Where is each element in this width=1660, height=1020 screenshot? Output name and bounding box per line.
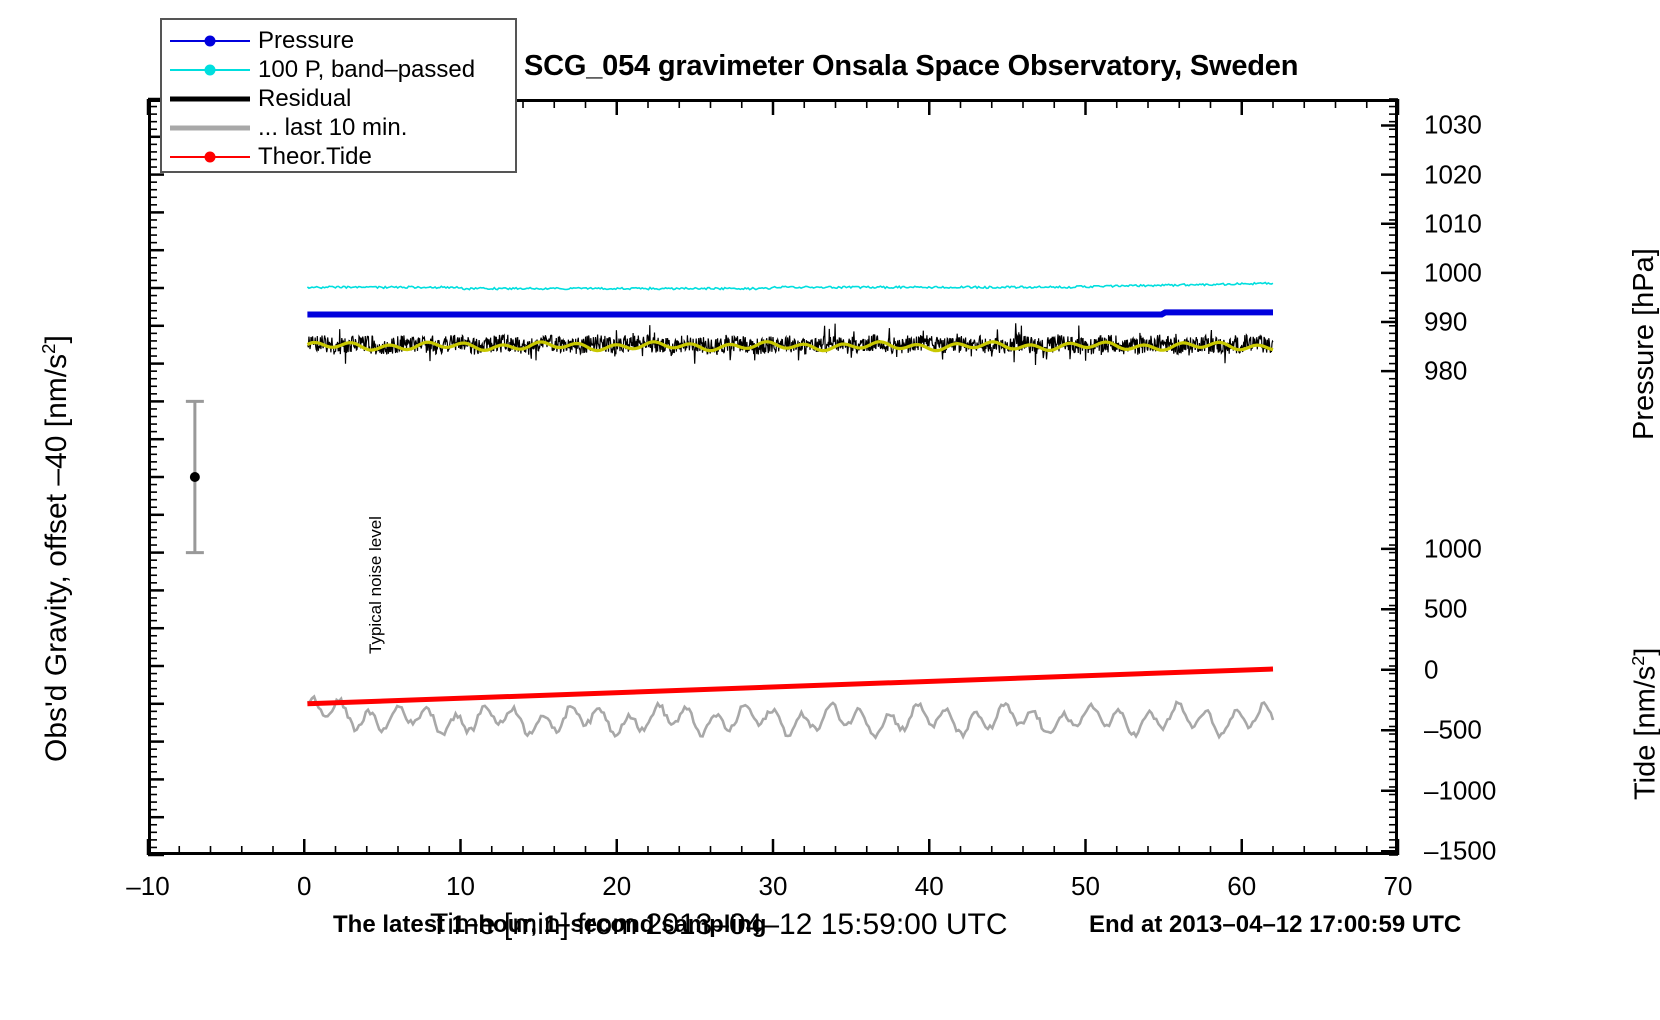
tick-label: 50: [1071, 871, 1100, 902]
tick-label: 980: [1424, 356, 1467, 387]
tick-label: 60: [1227, 871, 1256, 902]
legend-swatch-icon: [162, 84, 258, 113]
tick-label: 1000: [1424, 257, 1482, 288]
tick-label: –500: [1424, 715, 1482, 746]
page-title: SCG_054 gravimeter Onsala Space Observat…: [524, 50, 1384, 83]
y-axis-label-pressure: Pressure [hPa]: [1628, 248, 1660, 440]
legend-item[interactable]: Theor.Tide: [162, 142, 515, 171]
legend-item-label: 100 P, band–passed: [258, 56, 475, 84]
legend-item[interactable]: ... last 10 min.: [162, 113, 515, 142]
chart-page: SCG_054 gravimeter Onsala Space Observat…: [0, 0, 1660, 1020]
legend-item-label: Residual: [258, 85, 351, 113]
tick-label: 1030: [1424, 110, 1482, 141]
tick-label: 1010: [1424, 208, 1482, 239]
data-series-layer: [148, 99, 1398, 855]
tick-label: 0: [297, 871, 311, 902]
tick-label: 1000: [1424, 533, 1482, 564]
latest-sampling-note: The latest 1–hour, 1–second sampling: [333, 911, 766, 939]
tick-label: 20: [602, 871, 631, 902]
tick-label: 40: [915, 871, 944, 902]
legend-swatch-icon: [162, 113, 258, 142]
tick-label: –1000: [1424, 775, 1496, 806]
typical-noise-level-label: Typical noise level: [366, 516, 386, 654]
tick-label: 70: [1384, 871, 1413, 902]
legend-item[interactable]: Pressure: [162, 26, 515, 55]
typical-noise-level-errorbar: [186, 401, 204, 552]
tick-label: –10: [126, 871, 169, 902]
end-time-note: End at 2013–04–12 17:00:59 UTC: [1089, 911, 1461, 939]
legend-item[interactable]: 100 P, band–passed: [162, 55, 515, 84]
tick-label: 30: [759, 871, 788, 902]
legend-item-label: Pressure: [258, 27, 354, 55]
legend-item-label: ... last 10 min.: [258, 114, 407, 142]
legend-swatch-icon: [162, 142, 258, 171]
y-axis-label-tide: Tide [nm/s2]: [1628, 648, 1660, 800]
tick-label: –1500: [1424, 836, 1496, 867]
legend-item-label: Theor.Tide: [258, 143, 372, 171]
tick-label: 0: [1424, 654, 1438, 685]
tick-label: 990: [1424, 307, 1467, 338]
y-axis-label-left: Obs'd Gravity, offset –40 [nm/s2]: [38, 335, 74, 762]
legend-swatch-icon: [162, 26, 258, 55]
legend-swatch-icon: [162, 55, 258, 84]
tick-label: 10: [446, 871, 475, 902]
tick-label: 500: [1424, 594, 1467, 625]
plot-area: The latest 1–hour, 1–second sampling End…: [148, 99, 1398, 855]
legend-item[interactable]: Residual: [162, 84, 515, 113]
legend: Pressure100 P, band–passedResidual... la…: [160, 18, 517, 173]
tick-label: 1020: [1424, 159, 1482, 190]
